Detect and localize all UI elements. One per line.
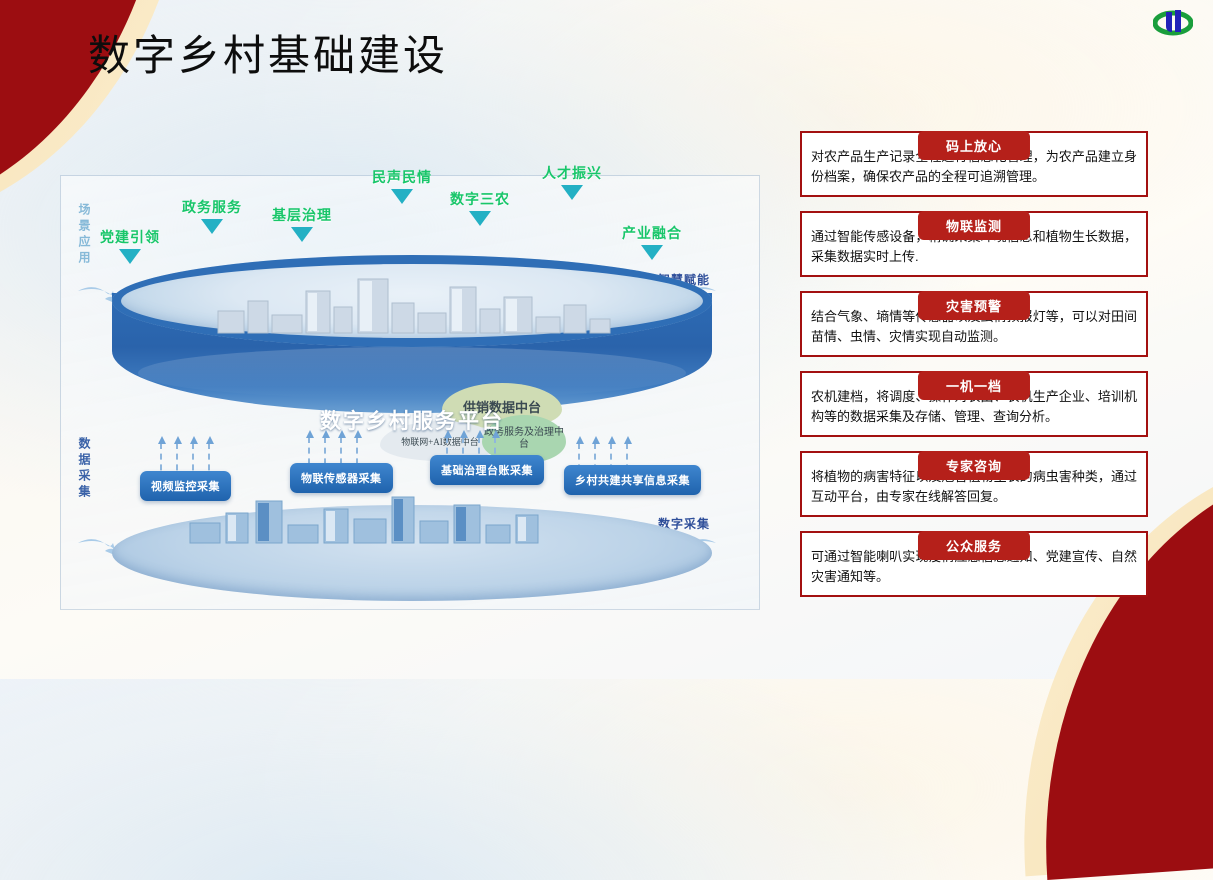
pointer-triangle-icon	[391, 189, 413, 204]
feature-card: 公众服务 可通过智能喇叭实现疫情应急信息通知、党建宣传、自然灾害通知等。	[800, 531, 1148, 597]
feature-card: 一机一档 农机建档，将调度、操作对农田、农机生产企业、培训机构等的数据采集及存储…	[800, 371, 1148, 437]
card-title: 码上放心	[918, 131, 1030, 160]
feature-card: 灾害预警 结合气象、墒情等传感器以及虫情预报灯等，可以对田间苗情、虫情、灾情实现…	[800, 291, 1148, 357]
card-title: 一机一档	[918, 371, 1030, 400]
pointer-triangle-icon	[291, 227, 313, 242]
feature-card: 专家咨询 将植物的病害特征以及危害植物生长的病虫害种类，通过互动平台，由专家在线…	[800, 451, 1148, 517]
collection-tag-3[interactable]: 乡村共建共享信息采集	[564, 465, 701, 495]
page-title: 数字乡村基础建设	[88, 22, 448, 83]
feature-card-list: 码上放心 对农产品生产记录全程进行信息化管理，为农产品建立身份档案，确保农产品的…	[800, 118, 1148, 611]
feature-card: 物联监测 通过智能传感设备，精确采集环境信息和植物生长数据，采集数据实时上传.	[800, 211, 1148, 277]
slide-root: 数字乡村基础建设 场景应用 数据采集 智慧赋能 数字采集 党建引领	[0, 0, 1213, 679]
company-logo	[1153, 6, 1193, 40]
pointer-label-3: 民声民情	[372, 167, 432, 204]
pointer-triangle-icon	[561, 185, 583, 200]
cylinder-sheen	[138, 347, 686, 399]
architecture-diagram: 场景应用 数据采集 智慧赋能 数字采集 党建引领 政务服务 基	[60, 175, 760, 610]
vertical-label-collect: 数据采集	[78, 437, 90, 501]
pointer-triangle-icon	[201, 219, 223, 234]
vertical-label-scene: 场景应用	[78, 203, 90, 267]
city-illustration-bottom	[170, 467, 570, 559]
card-title: 专家咨询	[918, 451, 1030, 480]
platform-label: 数字乡村服务平台	[112, 405, 712, 435]
feature-card: 码上放心 对农产品生产记录全程进行信息化管理，为农产品建立身份档案，确保农产品的…	[800, 131, 1148, 197]
pointer-triangle-icon	[469, 211, 491, 226]
card-title: 公众服务	[918, 531, 1030, 560]
pointer-label-5: 人才振兴	[542, 163, 602, 200]
pointer-label-1: 政务服务	[182, 197, 242, 234]
city-illustration-top	[208, 267, 620, 345]
service-platform-cylinder: 供销数据中台 物联网+AI数据中台 政务服务及治理中台 数字乡村服务平台	[112, 255, 712, 445]
card-title: 物联监测	[918, 211, 1030, 240]
pointer-label-4: 数字三农	[450, 189, 510, 226]
pointer-label-2: 基层治理	[272, 205, 332, 242]
card-title: 灾害预警	[918, 291, 1030, 320]
